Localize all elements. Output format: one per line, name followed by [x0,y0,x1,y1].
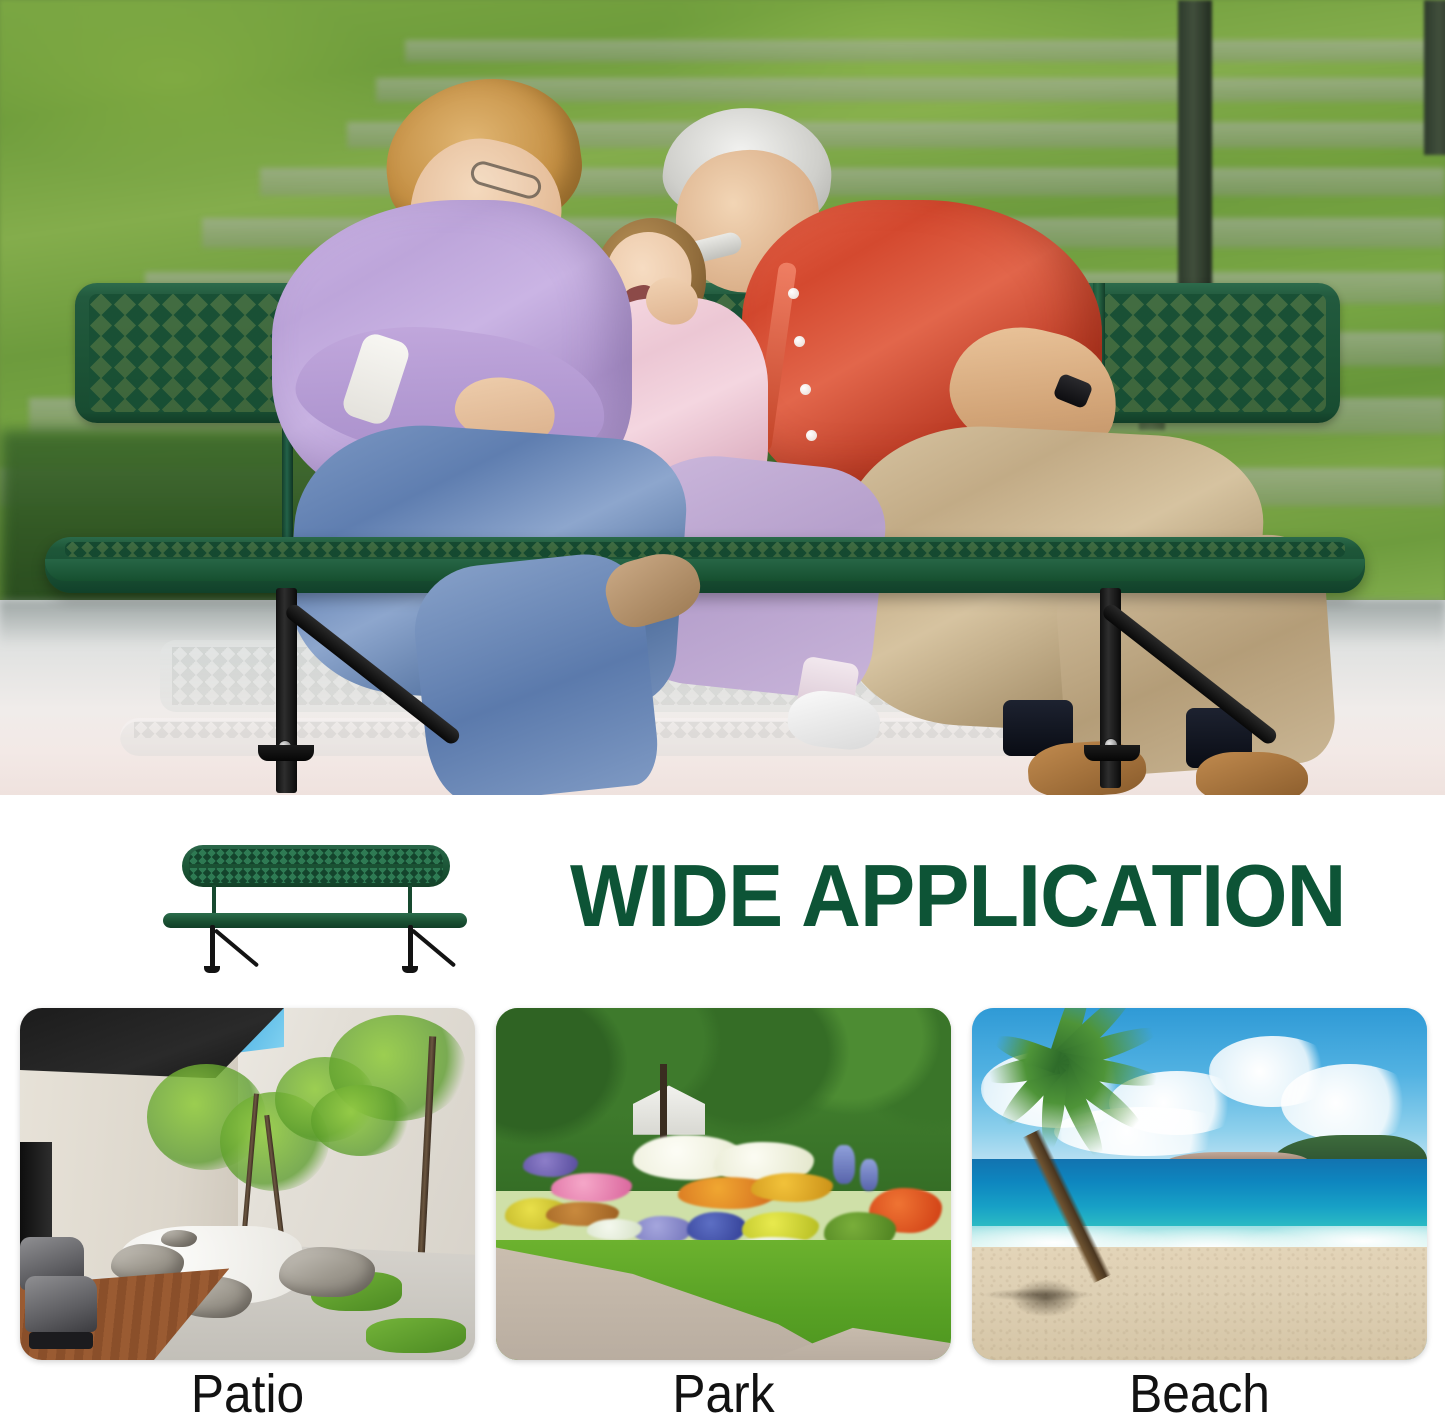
use-case-card-patio[interactable] [20,1008,475,1360]
grandfather-shoe [1196,752,1308,795]
product-seat [163,913,467,928]
patio-photo [20,1008,475,1360]
card-label-park: Park [514,1364,933,1415]
bench-foot [1084,745,1140,761]
people-legs-group [0,0,1445,795]
product-backrest [182,845,450,887]
product-diagonal-brace [411,928,456,967]
product-foot [204,966,220,973]
use-case-cards: Patio Park Beach [0,1008,1445,1415]
park-photo [496,1008,951,1360]
use-case-card-park[interactable] [496,1008,951,1360]
beach-photo [972,1008,1427,1360]
hero-lifestyle-photo [0,0,1445,795]
use-case-card-beach[interactable] [972,1008,1427,1360]
gold-flower-cluster [751,1173,833,1201]
product-diagonal-brace [214,928,259,967]
blue-spire-flower [833,1145,856,1184]
lounge-chair [25,1276,98,1332]
cloud [1281,1064,1418,1141]
purple-flower-cluster [523,1152,578,1177]
lounge-chair-base [29,1332,93,1350]
bench-foot [258,745,314,761]
card-label-beach: Beach [990,1364,1409,1415]
tree-foliage [311,1085,411,1155]
pink-flower-cluster [551,1173,633,1201]
garden-boulder [161,1230,197,1248]
garden-boulder [279,1247,375,1296]
palm-tree-crown [972,1008,1181,1177]
child-sneaker [785,687,882,752]
product-backrest-rail [189,864,443,868]
blue-flower-cluster [687,1212,746,1244]
headline-wide-application: WIDE APPLICATION [570,852,1313,940]
product-bench-thumbnail [160,825,470,980]
white-flower-cluster [587,1219,642,1240]
blue-spire-flower [860,1159,878,1191]
product-marketing-page: WIDE APPLICATION [0,0,1445,1415]
moss-patch [366,1318,466,1353]
product-foot [402,966,418,973]
card-label-patio: Patio [38,1364,457,1415]
